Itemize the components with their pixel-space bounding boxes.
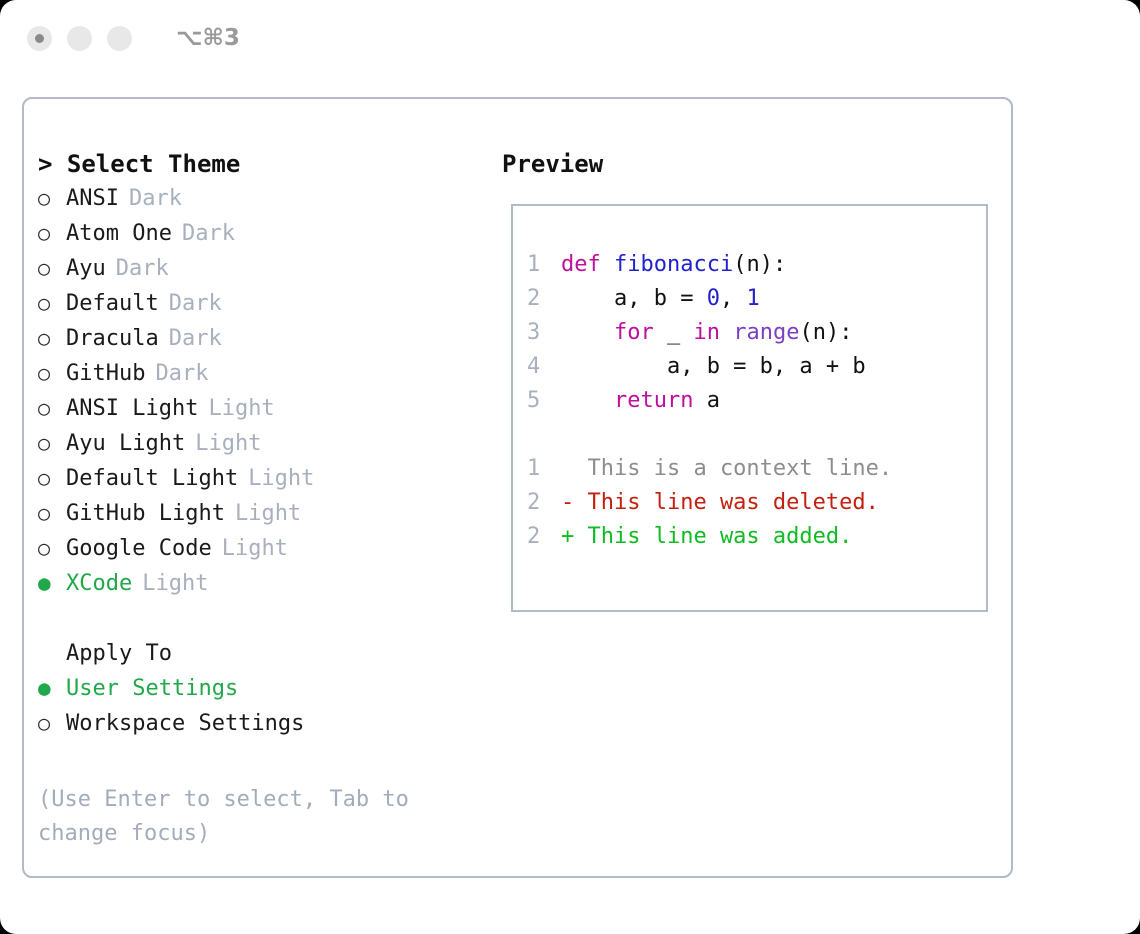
code-line: 5 return a xyxy=(527,384,986,418)
theme-option-label: GitHub Light xyxy=(66,497,225,531)
prompt-caret: > xyxy=(38,150,67,178)
window-dot-active[interactable] xyxy=(27,26,52,51)
window-dot-second[interactable] xyxy=(67,26,92,51)
diff-line-content: - This line was deleted. xyxy=(561,486,879,520)
code-token-plain: (n): xyxy=(799,320,852,345)
section-spacer xyxy=(38,601,478,637)
code-token-plain: _ xyxy=(654,320,694,345)
theme-option-ayu[interactable]: ○AyuDark xyxy=(38,251,478,286)
theme-selector-column: > Select Theme ○ANSIDark○Atom OneDark○Ay… xyxy=(38,147,478,851)
radio-selected-icon[interactable]: ● xyxy=(38,566,66,600)
code-line-content: a, b = b, a + b xyxy=(561,350,866,384)
theme-option-kind: Dark xyxy=(129,182,182,216)
code-token-plain xyxy=(720,320,733,345)
preview-code-box: 1def fibonacci(n):2 a, b = 0, 13 for _ i… xyxy=(511,204,988,612)
keyboard-hint-text: (Use Enter to select, Tab to change focu… xyxy=(38,783,448,851)
window-dot-third[interactable] xyxy=(107,26,132,51)
theme-option-atom-one[interactable]: ○Atom OneDark xyxy=(38,216,478,251)
radio-selected-icon[interactable]: ● xyxy=(38,671,66,705)
preview-heading: Preview xyxy=(502,147,1002,181)
apply-to-heading: Apply To xyxy=(38,637,478,671)
theme-option-default[interactable]: ○DefaultDark xyxy=(38,286,478,321)
code-block: 1def fibonacci(n):2 a, b = 0, 13 for _ i… xyxy=(527,248,986,418)
diff-line: 1 This is a context line. xyxy=(527,452,986,486)
diff-line-content: + This line was added. xyxy=(561,520,852,554)
code-token-fn: fibonacci xyxy=(614,252,733,277)
radio-unselected-icon[interactable]: ○ xyxy=(38,496,66,530)
radio-unselected-icon[interactable]: ○ xyxy=(38,321,66,355)
code-line: 2 a, b = 0, 1 xyxy=(527,282,986,316)
code-line: 1def fibonacci(n): xyxy=(527,248,986,282)
theme-option-kind: Dark xyxy=(169,322,222,356)
preview-code-inner: 1def fibonacci(n):2 a, b = 0, 13 for _ i… xyxy=(513,206,986,554)
theme-option-kind: Light xyxy=(142,567,208,601)
theme-option-kind: Light xyxy=(248,462,314,496)
radio-unselected-icon[interactable]: ○ xyxy=(38,216,66,250)
code-line: 3 for _ in range(n): xyxy=(527,316,986,350)
theme-option-label: XCode xyxy=(66,567,132,601)
theme-option-label: Dracula xyxy=(66,322,159,356)
theme-option-ansi-light[interactable]: ○ANSI LightLight xyxy=(38,391,478,426)
theme-option-dracula[interactable]: ○DraculaDark xyxy=(38,321,478,356)
code-line-number: 1 xyxy=(527,248,561,282)
diff-block: 1 This is a context line.2- This line wa… xyxy=(527,452,986,554)
keyboard-shortcut-label: ⌥⌘3 xyxy=(176,25,240,51)
app-window: ⌥⌘3 > Select Theme ○ANSIDark○Atom OneDar… xyxy=(0,0,1140,934)
theme-option-default-light[interactable]: ○Default LightLight xyxy=(38,461,478,496)
radio-unselected-icon[interactable]: ○ xyxy=(38,706,66,740)
theme-option-kind: Dark xyxy=(155,357,208,391)
code-token-plain: (n): xyxy=(733,252,786,277)
theme-option-label: ANSI Light xyxy=(66,392,198,426)
theme-list: ○ANSIDark○Atom OneDark○AyuDark○DefaultDa… xyxy=(38,181,478,601)
diff-line-content: This is a context line. xyxy=(561,452,892,486)
theme-option-label: Atom One xyxy=(66,217,172,251)
diff-line: 2- This line was deleted. xyxy=(527,486,986,520)
apply-option-label: Workspace Settings xyxy=(66,707,304,741)
theme-option-label: Default Light xyxy=(66,462,238,496)
radio-unselected-icon[interactable]: ○ xyxy=(38,531,66,565)
theme-option-label: Google Code xyxy=(66,532,212,566)
theme-option-label: GitHub xyxy=(66,357,145,391)
code-line: 4 a, b = b, a + b xyxy=(527,350,986,384)
code-token-num: 0 xyxy=(707,286,720,311)
radio-unselected-icon[interactable]: ○ xyxy=(38,286,66,320)
radio-unselected-icon[interactable]: ○ xyxy=(38,356,66,390)
title-bar: ⌥⌘3 xyxy=(0,0,1140,76)
theme-option-xcode[interactable]: ●XCodeLight xyxy=(38,566,478,601)
code-token-kw: in xyxy=(693,320,720,345)
theme-option-kind: Dark xyxy=(116,252,169,286)
code-line-content: return a xyxy=(561,384,720,418)
diff-line-number: 2 xyxy=(527,520,561,554)
apply-option-label: User Settings xyxy=(66,672,238,706)
apply-option-user-settings[interactable]: ●User Settings xyxy=(38,671,478,706)
code-line-content: def fibonacci(n): xyxy=(561,248,786,282)
apply-option-workspace-settings[interactable]: ○Workspace Settings xyxy=(38,706,478,741)
code-token-call: range xyxy=(733,320,799,345)
code-line-content: for _ in range(n): xyxy=(561,316,852,350)
diff-line-number: 1 xyxy=(527,452,561,486)
window-dot-active-inner xyxy=(35,34,44,43)
code-token-plain xyxy=(561,388,614,413)
radio-unselected-icon[interactable]: ○ xyxy=(38,391,66,425)
theme-option-label: ANSI xyxy=(66,182,119,216)
theme-option-github-light[interactable]: ○GitHub LightLight xyxy=(38,496,478,531)
theme-option-kind: Dark xyxy=(169,287,222,321)
code-token-plain: a, b = b, a + b xyxy=(561,354,866,379)
theme-option-ansi[interactable]: ○ANSIDark xyxy=(38,181,478,216)
apply-to-list: ●User Settings○Workspace Settings xyxy=(38,671,478,741)
theme-option-google-code[interactable]: ○Google CodeLight xyxy=(38,531,478,566)
radio-unselected-icon[interactable]: ○ xyxy=(38,426,66,460)
code-line-number: 3 xyxy=(527,316,561,350)
code-token-plain: a xyxy=(693,388,720,413)
code-token-kw: def xyxy=(561,252,614,277)
select-theme-heading: > Select Theme xyxy=(38,147,478,181)
code-line-number: 2 xyxy=(527,282,561,316)
code-token-kw: return xyxy=(614,388,693,413)
preview-column: Preview xyxy=(502,147,1002,181)
main-panel: > Select Theme ○ANSIDark○Atom OneDark○Ay… xyxy=(22,97,1013,878)
diff-line-number: 2 xyxy=(527,486,561,520)
code-line-content: a, b = 0, 1 xyxy=(561,282,760,316)
code-token-kw: for xyxy=(614,320,654,345)
theme-option-label: Default xyxy=(66,287,159,321)
theme-option-label: Ayu Light xyxy=(66,427,185,461)
code-token-plain: , xyxy=(720,286,747,311)
theme-option-kind: Light xyxy=(222,532,288,566)
theme-option-kind: Light xyxy=(235,497,301,531)
theme-option-kind: Light xyxy=(195,427,261,461)
radio-unselected-icon[interactable]: ○ xyxy=(38,251,66,285)
select-theme-heading-text: Select Theme xyxy=(67,150,240,178)
radio-unselected-icon[interactable]: ○ xyxy=(38,461,66,495)
code-diff-spacer xyxy=(527,418,986,452)
theme-option-kind: Dark xyxy=(182,217,235,251)
theme-option-github[interactable]: ○GitHubDark xyxy=(38,356,478,391)
code-line-number: 5 xyxy=(527,384,561,418)
code-token-plain: a, b = xyxy=(561,286,707,311)
code-line-number: 4 xyxy=(527,350,561,384)
diff-line: 2+ This line was added. xyxy=(527,520,986,554)
code-token-plain xyxy=(561,320,614,345)
theme-option-label: Ayu xyxy=(66,252,106,286)
theme-option-kind: Light xyxy=(208,392,274,426)
theme-option-ayu-light[interactable]: ○Ayu LightLight xyxy=(38,426,478,461)
panel-columns: > Select Theme ○ANSIDark○Atom OneDark○Ay… xyxy=(24,99,1011,876)
code-token-num: 1 xyxy=(746,286,759,311)
radio-unselected-icon[interactable]: ○ xyxy=(38,181,66,215)
